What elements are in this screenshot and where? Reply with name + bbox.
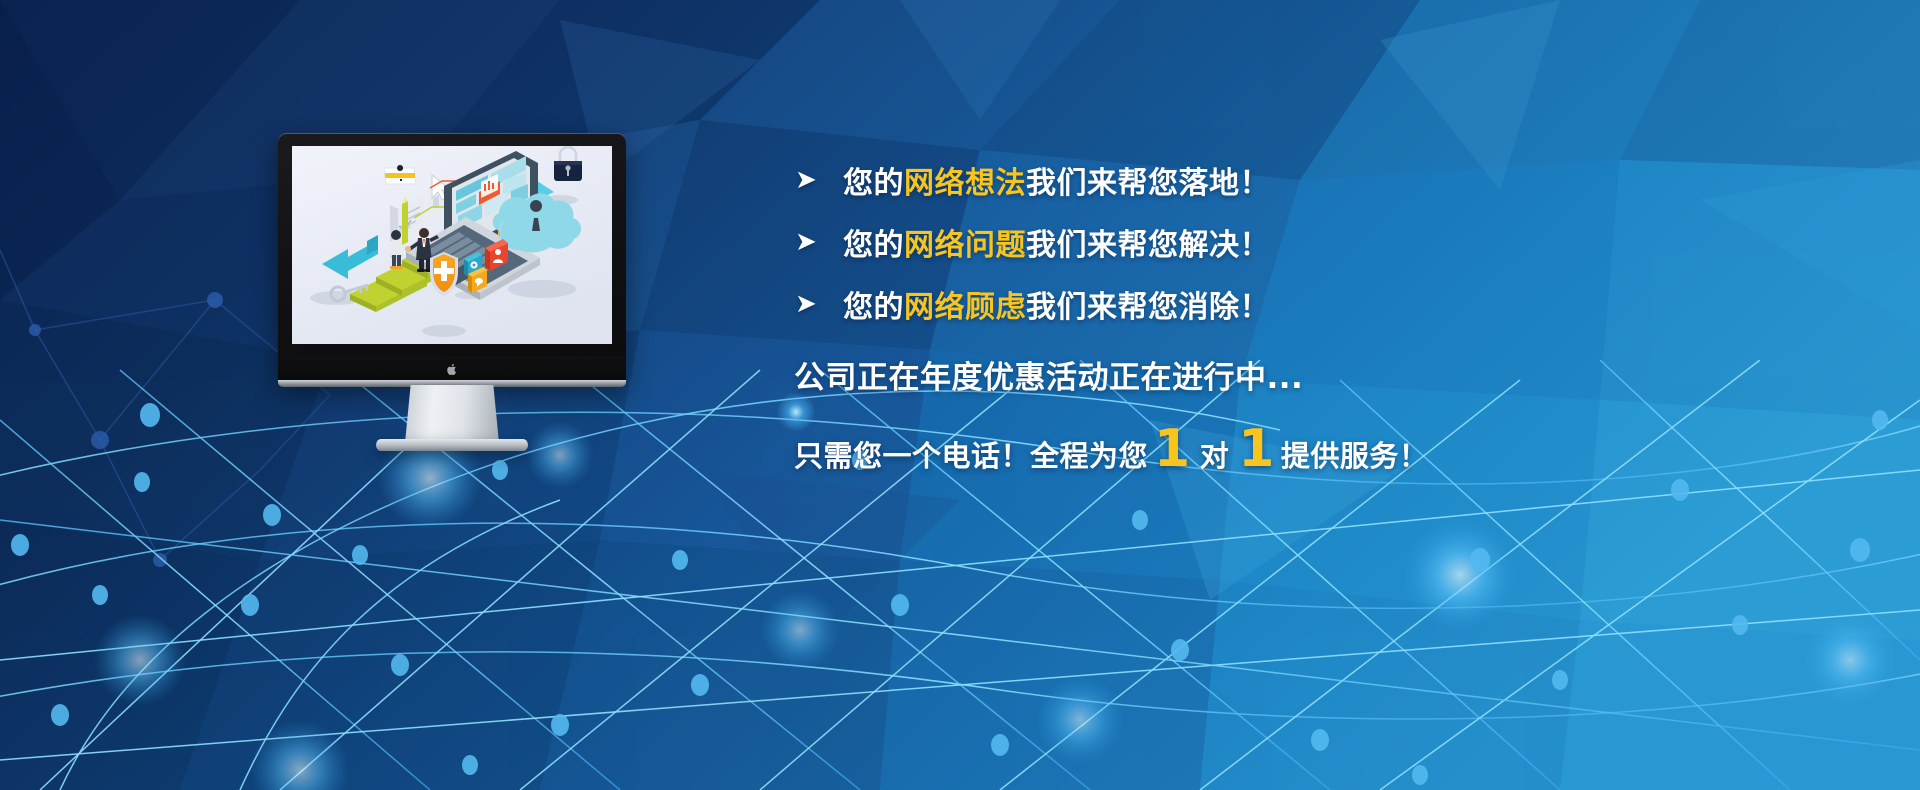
bullet-text-2: 您的网络问题我们来帮您解决！ [843,220,1270,264]
bullet-text-3: 您的网络顾虑我们来帮您消除！ [843,282,1270,326]
pencil-icon [402,196,408,245]
arrow-bullet-icon: ➤ [795,167,843,193]
hero-banner: ➤ 您的网络想法我们来帮您落地！ ➤ 您的网络问题我们来帮您解决！ ➤ 您的网络… [0,0,1920,790]
bullet-highlight-2: 网络问题 [904,228,1026,263]
bullet-suffix-1: 我们来帮您落地！ [1026,166,1270,201]
bullet-highlight-1: 网络想法 [904,166,1026,201]
bullet-prefix-2: 您的 [843,228,904,263]
bullet-prefix-1: 您的 [843,166,904,201]
monitor-stand-neck [405,385,499,443]
arrow-bullet-icon: ➤ [795,229,843,255]
monitor-screen [292,146,612,344]
keycard-icon [384,165,416,184]
monitor-stand-foot [376,439,528,451]
bullet-row-3: ➤ 您的网络顾虑我们来帮您消除！ [795,274,1555,334]
bullet-prefix-3: 您的 [843,290,904,325]
monitor-bezel [278,133,626,383]
cta-number-second: 1 [1232,429,1281,471]
bullet-row-2: ➤ 您的网络问题我们来帮您解决！ [795,212,1555,272]
bullet-text-1: 您的网络想法我们来帮您落地！ [843,158,1270,202]
monitor-chin [278,356,626,383]
arrow-bullet-icon: ➤ [795,291,843,317]
bullet-highlight-3: 网络顾虑 [904,290,1026,325]
apple-logo-icon [447,363,458,376]
promo-tagline: 公司正在年度优惠活动正在进行中... [794,352,1555,397]
bullet-suffix-3: 我们来帮您消除！ [1026,290,1270,325]
copy-block: ➤ 您的网络想法我们来帮您落地！ ➤ 您的网络问题我们来帮您解决！ ➤ 您的网络… [795,150,1555,475]
cta-number-first: 1 [1148,429,1197,471]
isometric-network-security-illustration [292,146,612,344]
cta-separator: 对 [1197,433,1233,475]
bullet-row-1: ➤ 您的网络想法我们来帮您落地！ [795,150,1555,210]
cta-line: 只需您一个电话！全程为您 1 对 1 提供服务！ [794,429,1555,475]
imac-style-display [278,133,626,451]
cta-lead-text: 只需您一个电话！全程为您 [794,433,1148,475]
bullet-suffix-2: 我们来帮您解决！ [1026,228,1270,263]
cta-trail-text: 提供服务！ [1281,433,1429,475]
